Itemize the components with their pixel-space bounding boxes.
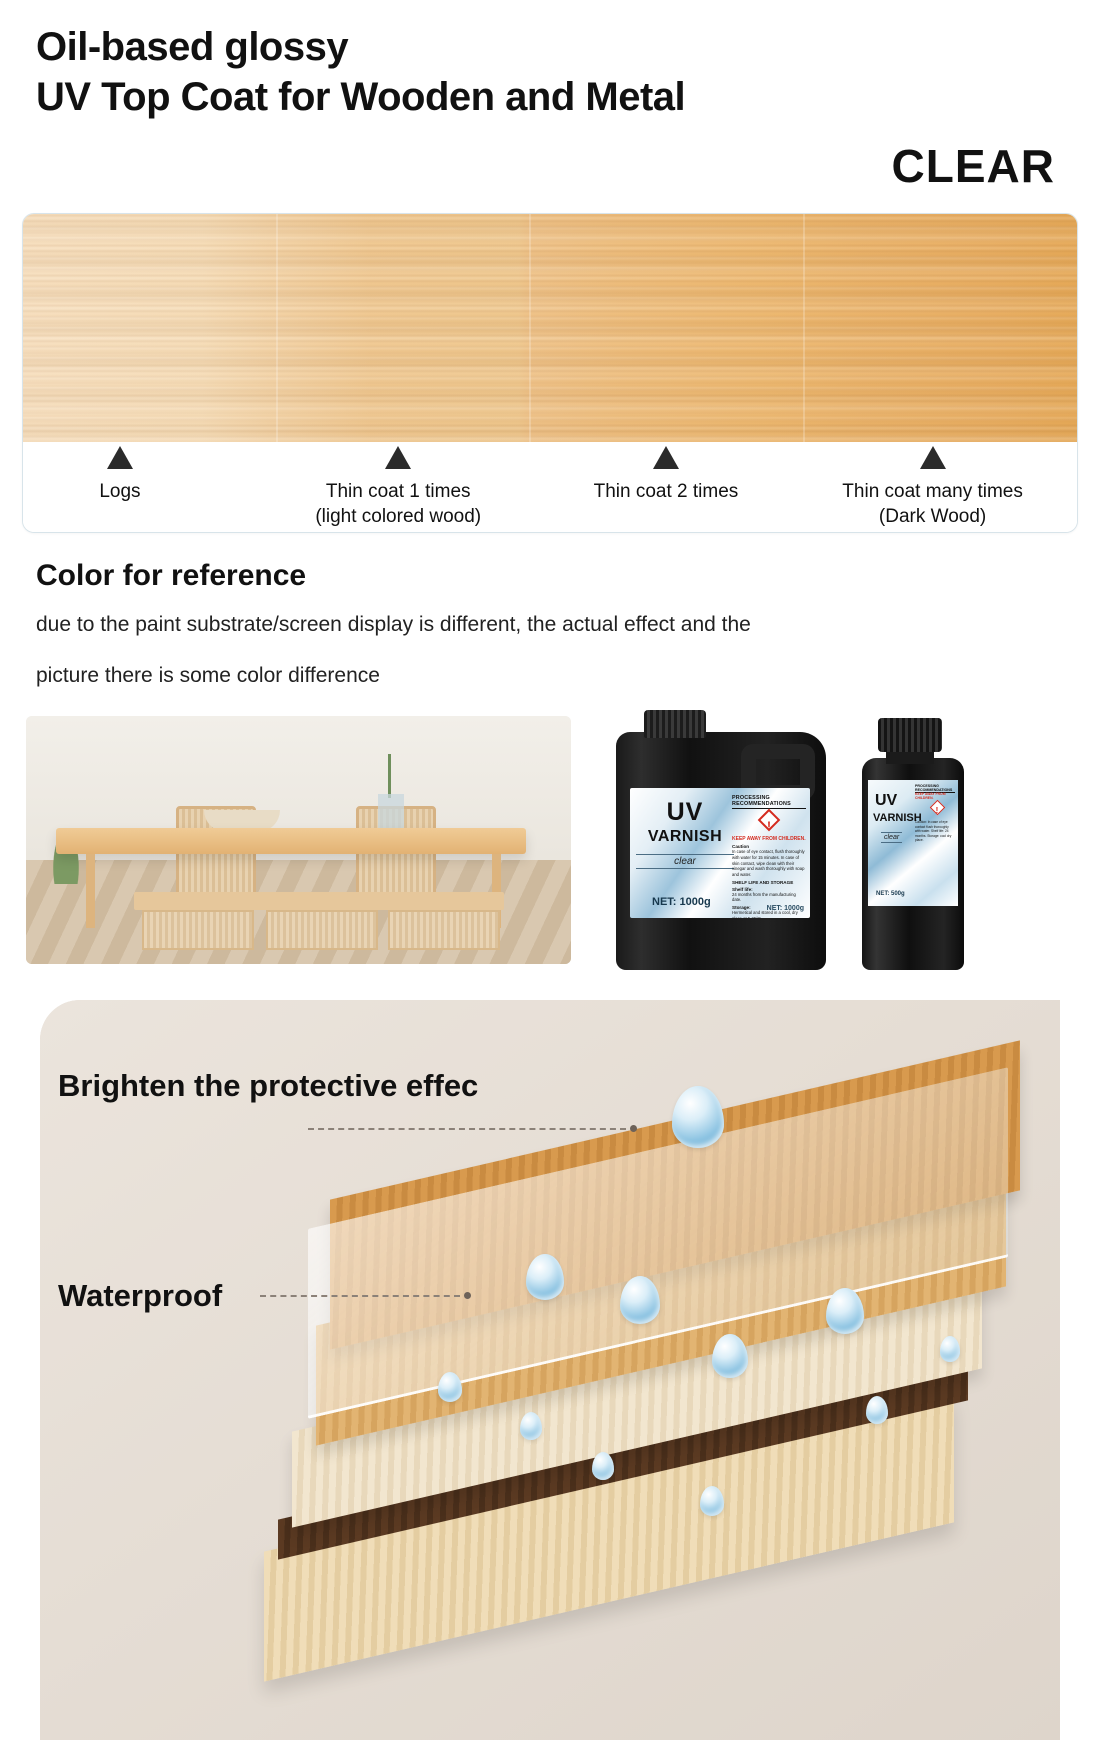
water-droplet-icon xyxy=(592,1452,614,1480)
photo-bench-panel-2 xyxy=(266,910,378,950)
marker-label: Thin coat many times (Dark Wood) xyxy=(783,479,1078,530)
wood-seam-2 xyxy=(529,214,531,442)
product-jug-1000g: UV VARNISH clear PROCESSING RECOMMENDATI… xyxy=(614,710,829,972)
wood-seam-3 xyxy=(803,214,805,442)
product-image-row: UV VARNISH clear PROCESSING RECOMMENDATI… xyxy=(26,710,1078,978)
variant-clear-label: CLEAR xyxy=(36,139,1070,193)
triangle-up-icon xyxy=(653,446,679,469)
bottle-warning: KEEP AWAY FROM CHILDREN. xyxy=(915,792,955,800)
wood-shade-card: Logs Thin coat 1 times (light colored wo… xyxy=(22,213,1078,533)
triangle-up-icon xyxy=(920,446,946,469)
jug-net-weight-secondary: NET: 1000g xyxy=(767,905,804,912)
marker-thin-coat-1: Thin coat 1 times (light colored wood) xyxy=(248,442,548,530)
bottle-label: UV VARNISH clear PROCESSING RECOMMENDATI… xyxy=(868,780,958,906)
marker-logs: Logs xyxy=(22,442,270,505)
color-reference-note-line-1: due to the paint substrate/screen displa… xyxy=(36,607,1070,644)
wood-grain-texture xyxy=(23,214,1077,442)
marker-thin-coat-many: Thin coat many times (Dark Wood) xyxy=(783,442,1078,530)
water-droplet-icon xyxy=(940,1336,960,1362)
bottle-variant: clear xyxy=(881,832,902,843)
water-droplet-icon xyxy=(438,1372,462,1402)
photo-table-top xyxy=(56,828,526,854)
jug-brand: UV xyxy=(636,798,734,827)
jug-label: UV VARNISH clear PROCESSING RECOMMENDATI… xyxy=(630,788,810,918)
color-reference-note-line-2: picture there is some color difference xyxy=(36,658,1070,695)
water-droplet-icon xyxy=(520,1412,542,1440)
interior-table-photo xyxy=(26,716,571,964)
product-bottle-small: UV VARNISH clear PROCESSING RECOMMENDATI… xyxy=(854,718,972,972)
callout-line-brighten xyxy=(308,1128,626,1130)
triangle-up-icon xyxy=(107,446,133,469)
color-reference-title: Color for reference xyxy=(36,559,1100,593)
photo-bench-panel-1 xyxy=(142,910,254,950)
marker-thin-coat-2: Thin coat 2 times xyxy=(516,442,816,505)
photo-stem xyxy=(388,754,391,798)
hazard-warning-icon: ! xyxy=(929,800,945,816)
jug-caution-body: In case of eye contact, flush thoroughly… xyxy=(732,849,806,877)
photo-bench-panel-3 xyxy=(388,910,500,950)
jug-label-right: PROCESSING RECOMMENDATIONS ! KEEP AWAY F… xyxy=(732,795,806,918)
bottle-brand: UV xyxy=(875,792,897,810)
jug-label-left: UV VARNISH clear xyxy=(636,798,734,869)
feature-label-waterproof: Waterproof xyxy=(58,1278,222,1314)
jug-shelf-body: 24 months from the manufacturing date. xyxy=(732,892,806,903)
headline-line-2: UV Top Coat for Wooden and Metal xyxy=(36,72,1070,122)
callout-dot-waterproof xyxy=(464,1292,471,1299)
feature-panel: Brighten the protective effec Waterproof xyxy=(40,1000,1060,1740)
triangle-up-icon xyxy=(385,446,411,469)
page-header: Oil-based glossy UV Top Coat for Wooden … xyxy=(0,0,1100,193)
marker-label: Logs xyxy=(22,479,270,505)
callout-dot-brighten xyxy=(630,1125,637,1132)
bottle-net-weight: NET: 500g xyxy=(876,891,905,897)
wood-marker-row: Logs Thin coat 1 times (light colored wo… xyxy=(23,442,1077,532)
jug-shelf-head: SHELF LIFE AND STORAGE xyxy=(732,880,806,885)
headline-line-1: Oil-based glossy xyxy=(36,22,1070,72)
jug-panel-title: PROCESSING RECOMMENDATIONS xyxy=(732,795,806,809)
product-detail-page: Oil-based glossy UV Top Coat for Wooden … xyxy=(0,0,1100,1757)
jug-net-weight: NET: 1000g xyxy=(652,896,711,908)
jug-product: VARNISH xyxy=(636,828,734,846)
photo-table-leg-left xyxy=(86,854,95,928)
marker-label: Thin coat 2 times xyxy=(516,479,816,505)
callout-line-waterproof xyxy=(260,1295,460,1297)
water-droplet-icon xyxy=(866,1396,888,1424)
marker-label: Thin coat 1 times (light colored wood) xyxy=(248,479,548,530)
jug-cap xyxy=(644,710,706,738)
bottle-cap xyxy=(878,718,942,752)
photo-bench-top xyxy=(134,892,504,910)
feature-label-brighten: Brighten the protective effec xyxy=(58,1068,478,1104)
wood-gradient-strip xyxy=(23,214,1077,442)
hazard-warning-icon: ! xyxy=(758,812,780,834)
wood-seam-1 xyxy=(276,214,278,442)
jug-variant: clear xyxy=(636,854,734,869)
bottle-body-text: Caution: In case of eye contact flush th… xyxy=(915,820,955,842)
water-droplet-icon xyxy=(700,1486,724,1516)
